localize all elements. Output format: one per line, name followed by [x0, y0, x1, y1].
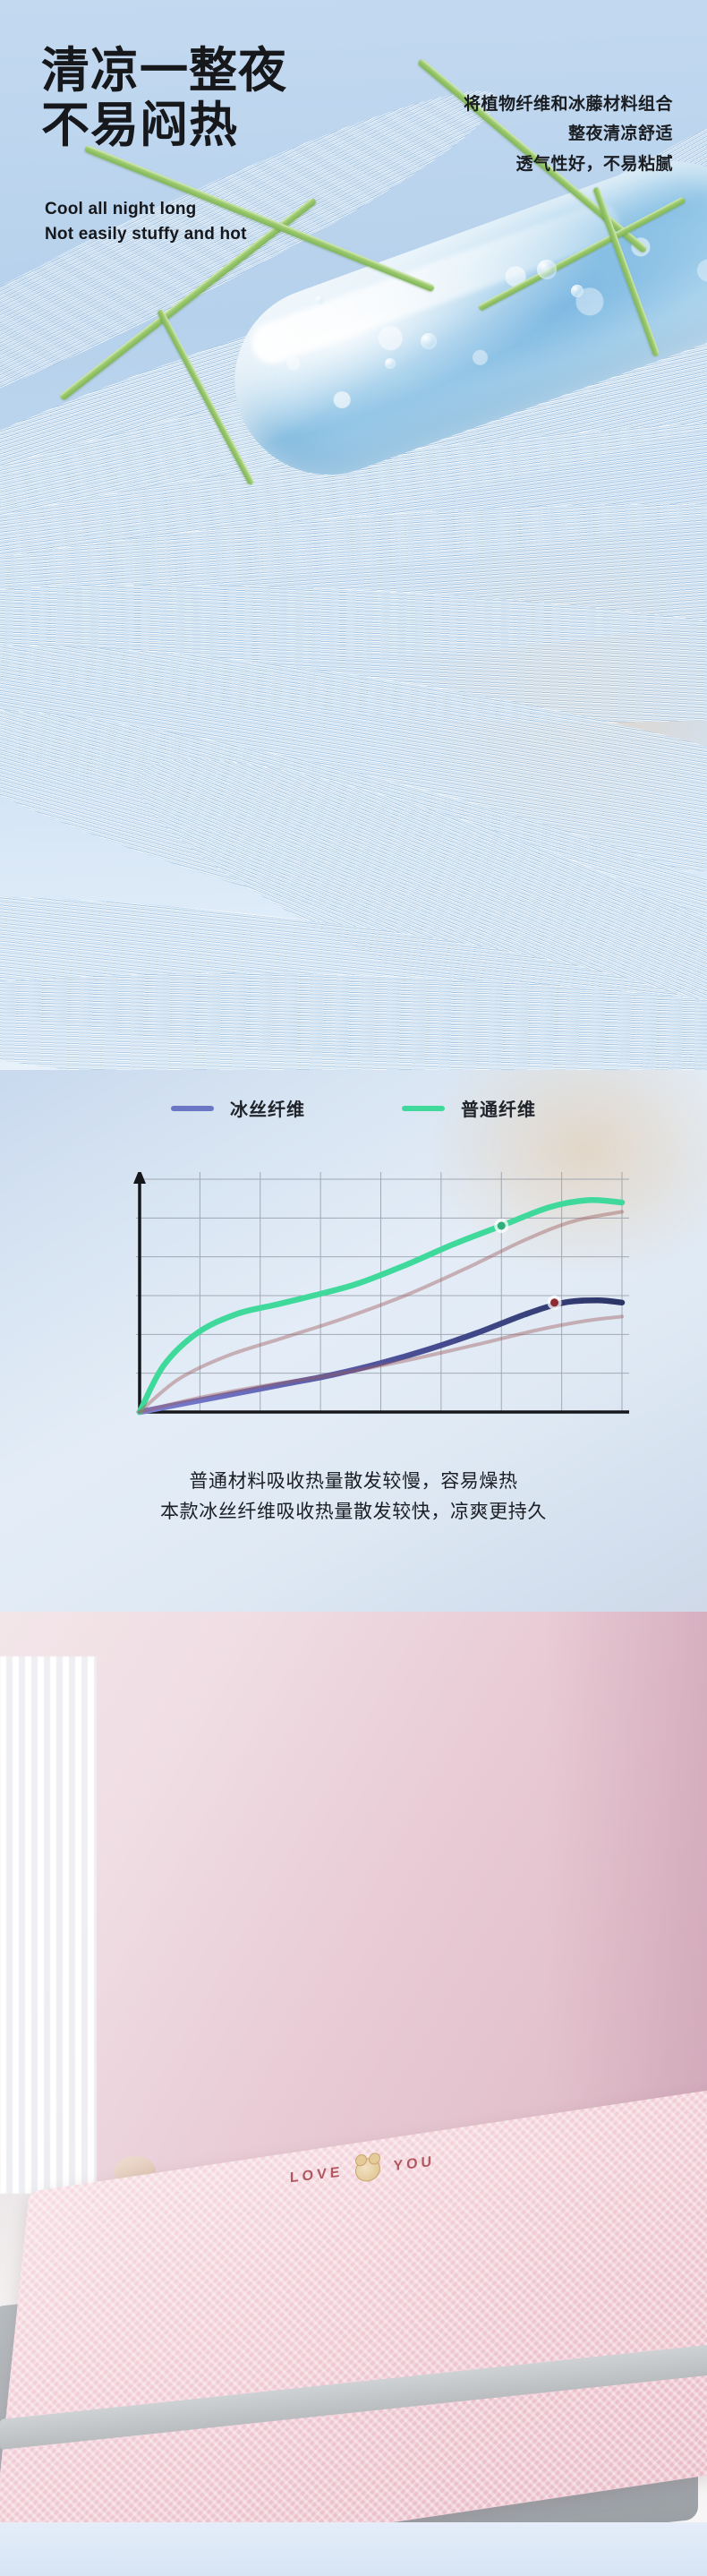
embroidery-you-text: YOU: [393, 2154, 435, 2175]
subtitle-line-1: Cool all night long: [45, 197, 247, 222]
caption-line-2: 本款冰丝纤维吸收热量散发较快，凉爽更持久: [0, 1496, 707, 1527]
chart-legend: 冰丝纤维 普通纤维: [0, 1095, 707, 1121]
embroidery-love-text: LOVE: [290, 2164, 344, 2187]
caption-line-1: 普通材料吸收热量散发较慢，容易燥热: [0, 1466, 707, 1496]
bear-mascot-icon: [355, 2157, 380, 2183]
legend-swatch-normal-fibre: [402, 1106, 445, 1111]
bottom-strip: [0, 2522, 707, 2576]
hero-desc-line-3: 透气性好，不易粘腻: [464, 150, 673, 179]
bedroom-scene-section: [0, 1612, 707, 2522]
headline-line-2: 不易闷热: [41, 98, 287, 152]
hero-desc-line-1: 将植物纤维和冰藤材料组合: [464, 90, 673, 119]
chart-markers: [494, 1219, 561, 1310]
curtain-icon: [0, 1656, 97, 2194]
hero-section: 清凉一整夜 不易闷热 Cool all night long Not easil…: [0, 0, 707, 1070]
headline-line-1: 清凉一整夜: [41, 43, 287, 98]
comparison-line-chart: [115, 1172, 629, 1432]
legend-label-ice-fibre: 冰丝纤维: [230, 1095, 305, 1121]
chart-section: 冰丝纤维 普通纤维 普通材料吸收热量散发较慢，容易燥热 本款冰丝纤维吸收热量散发…: [0, 1070, 707, 1612]
legend-swatch-ice-fibre: [171, 1106, 214, 1111]
hero-desc-line-2: 整夜清凉舒适: [464, 119, 673, 149]
page-title: 清凉一整夜 不易闷热: [41, 43, 287, 152]
hero-description: 将植物纤维和冰藤材料组合 整夜清凉舒适 透气性好，不易粘腻: [464, 90, 673, 179]
legend-label-normal-fibre: 普通纤维: [461, 1095, 536, 1121]
subtitle-line-2: Not easily stuffy and hot: [45, 222, 247, 247]
chart-caption: 普通材料吸收热量散发较慢，容易燥热 本款冰丝纤维吸收热量散发较快，凉爽更持久: [0, 1466, 707, 1527]
legend-item-normal-fibre: 普通纤维: [402, 1095, 536, 1121]
legend-item-ice-fibre: 冰丝纤维: [171, 1095, 305, 1121]
subtitle-english: Cool all night long Not easily stuffy an…: [45, 197, 247, 246]
